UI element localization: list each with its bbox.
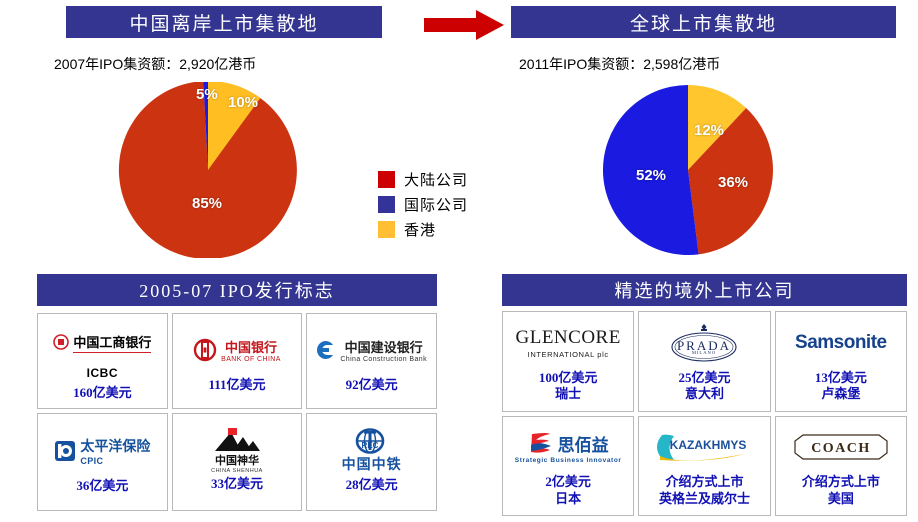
right-arrow-icon [424, 10, 504, 40]
samsonite-logo-icon: Samsonite [778, 321, 904, 365]
logo-cell-icbc[interactable]: 中国工商银行 ICBC 160亿美元 [37, 313, 168, 409]
shenhua-name-en: CHINA SHENHUA [211, 468, 263, 474]
left-logos-title: 2005-07 IPO发行标志 [139, 277, 335, 303]
left-panel-title-banner: 中国离岸上市集散地 [66, 6, 382, 38]
svg-text:REC: REC [361, 441, 378, 450]
ccb-logo-icon: 中国建设银行 China Construction Bank [309, 328, 434, 372]
svg-text:KAZAKHMYS: KAZAKHMYS [670, 438, 747, 452]
chart-legend: 大陆公司 国际公司 香港 [378, 168, 468, 240]
legend-swatch-hongkong-icon [378, 221, 395, 238]
cpic-logo-icon: 太平洋保险 CPIC [40, 429, 165, 473]
logo-cell-samsonite[interactable]: Samsonite 13亿美元 卢森堡 [775, 311, 907, 412]
legend-swatch-mainland-icon [378, 171, 395, 188]
ccb-amount: 92亿美元 [346, 377, 398, 393]
left-chart-subtitle: 2007年IPO集资额：2,920亿港币 [54, 54, 256, 74]
coach-amount: 介绍方式上市 [802, 474, 880, 490]
logo-cell-coach[interactable]: COACH 介绍方式上市 美国 [775, 416, 907, 516]
boc-amount: 111亿美元 [208, 377, 265, 393]
sbi-logo-icon: 思佰益 Strategic Business Innovator [505, 425, 631, 469]
svg-text:MILANO: MILANO [692, 350, 716, 355]
icbc-amount: 160亿美元 [73, 385, 132, 401]
glencore-name-en: GLENCORE [516, 327, 621, 349]
legend-item-mainland[interactable]: 大陆公司 [378, 168, 468, 190]
logo-cell-boc[interactable]: 中国银行 BANK OF CHINA 111亿美元 [172, 313, 303, 409]
ccb-name-cn: 中国建设银行 [345, 337, 423, 356]
cpic-name-en: CPIC [80, 456, 103, 466]
legend-swatch-international-icon [378, 196, 395, 213]
legend-label-mainland: 大陆公司 [404, 169, 468, 190]
crec-amount: 28亿美元 [346, 477, 398, 493]
glencore-logo-icon: GLENCORE INTERNATIONAL plc [505, 321, 631, 365]
left-logo-grid: 中国工商银行 ICBC 160亿美元 中国银行 BANK OF CHINA 11… [37, 313, 437, 511]
left-pie-chart: 85% 5% 10% [108, 82, 308, 258]
right-panel-title-banner: 全球上市集散地 [511, 6, 896, 38]
left-pie-svg [108, 82, 308, 258]
icbc-name-cn: 中国工商银行 [73, 332, 151, 353]
shenhua-logo-icon: 中国神华 CHINA SHENHUA [175, 431, 300, 471]
right-pie-svg [588, 82, 798, 258]
logo-cell-cpic[interactable]: 太平洋保险 CPIC 36亿美元 [37, 413, 168, 511]
legend-item-international[interactable]: 国际公司 [378, 193, 468, 215]
prada-amount: 25亿美元 [678, 370, 730, 386]
kazakhmys-country: 英格兰及威尔士 [659, 491, 750, 507]
legend-label-international: 国际公司 [404, 194, 468, 215]
kazakhmys-amount: 介绍方式上市 [665, 474, 743, 490]
legend-item-hongkong[interactable]: 香港 [378, 218, 468, 240]
cpic-name-cn: 太平洋保险 [80, 436, 150, 456]
shenhua-name-cn: 中国神华 [215, 452, 259, 468]
samsonite-country: 卢森堡 [821, 386, 860, 402]
logo-cell-crec[interactable]: REC 中国中铁 28亿美元 [306, 413, 437, 511]
prada-country: 意大利 [685, 386, 724, 402]
coach-country: 美国 [828, 491, 854, 507]
icbc-name-en: ICBC [87, 366, 118, 380]
right-logos-title: 精选的境外上市公司 [615, 277, 795, 303]
logo-cell-prada[interactable]: PRADA MILANO 25亿美元 意大利 [638, 311, 770, 412]
right-panel-title: 全球上市集散地 [630, 9, 777, 36]
logo-cell-glencore[interactable]: GLENCORE INTERNATIONAL plc 100亿美元 瑞士 [502, 311, 634, 412]
right-logo-grid: GLENCORE INTERNATIONAL plc 100亿美元 瑞士 PRA… [502, 311, 907, 516]
coach-logo-icon: COACH [778, 425, 904, 469]
pie-slice-international-right[interactable] [603, 85, 699, 255]
shenhua-amount: 33亿美元 [211, 476, 263, 492]
right-pie-chart: 12% 36% 52% [588, 82, 798, 258]
samsonite-name-en: Samsonite [795, 332, 887, 354]
samsonite-amount: 13亿美元 [815, 370, 867, 386]
svg-text:COACH: COACH [811, 441, 871, 456]
left-panel-title: 中国离岸上市集散地 [129, 9, 318, 36]
left-logos-title-banner: 2005-07 IPO发行标志 [37, 274, 437, 306]
logo-cell-sbi[interactable]: 思佰益 Strategic Business Innovator 2亿美元 日本 [502, 416, 634, 516]
glencore-country: 瑞士 [555, 386, 581, 402]
right-logos-title-banner: 精选的境外上市公司 [502, 274, 907, 306]
logo-cell-ccb[interactable]: 中国建设银行 China Construction Bank 92亿美元 [306, 313, 437, 409]
prada-logo-icon: PRADA MILANO [641, 321, 767, 365]
kazakhmys-logo-icon: KAZAKHMYS [641, 425, 767, 469]
glencore-tagline: INTERNATIONAL plc [528, 350, 609, 359]
crec-logo-icon: REC 中国中铁 [309, 430, 434, 472]
sbi-name-cn: 思佰益 [558, 431, 609, 456]
boc-name-en: BANK OF CHINA [221, 356, 281, 363]
legend-label-hongkong: 香港 [404, 219, 436, 240]
sbi-amount: 2亿美元 [545, 474, 591, 490]
sbi-country: 日本 [555, 491, 581, 507]
right-chart-subtitle: 2011年IPO集资额：2,598亿港币 [519, 54, 720, 74]
logo-cell-shenhua[interactable]: 中国神华 CHINA SHENHUA 33亿美元 [172, 413, 303, 511]
icbc-logo-icon: 中国工商银行 [40, 320, 165, 364]
ccb-name-en: China Construction Bank [340, 356, 427, 363]
boc-name-cn: 中国银行 [225, 337, 277, 356]
glencore-amount: 100亿美元 [539, 370, 598, 386]
crec-name-cn: 中国中铁 [342, 454, 402, 474]
sbi-tagline: Strategic Business Innovator [515, 457, 622, 464]
cpic-amount: 36亿美元 [76, 478, 128, 494]
boc-logo-icon: 中国银行 BANK OF CHINA [175, 328, 300, 372]
logo-cell-kazakhmys[interactable]: KAZAKHMYS 介绍方式上市 英格兰及威尔士 [638, 416, 770, 516]
